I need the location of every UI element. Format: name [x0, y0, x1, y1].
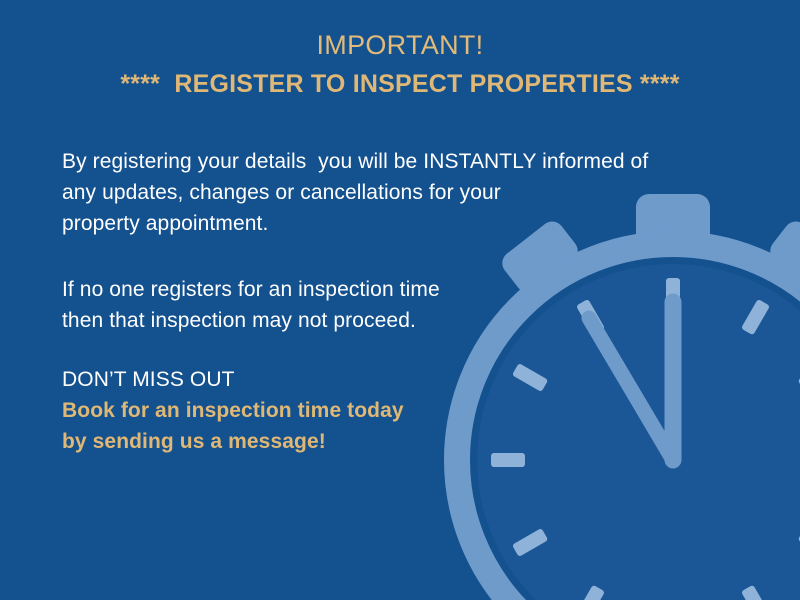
- promotional-slide: IMPORTANT! **** REGISTER TO INSPECT PROP…: [0, 0, 800, 600]
- heading-block: IMPORTANT! **** REGISTER TO INSPECT PROP…: [0, 28, 800, 100]
- slide-text-content: IMPORTANT! **** REGISTER TO INSPECT PROP…: [0, 0, 800, 600]
- cta-message-line: by sending us a message!: [62, 426, 404, 457]
- paragraph-line: If no one registers for an inspection ti…: [62, 274, 440, 305]
- paragraph-line: any updates, changes or cancellations fo…: [62, 177, 648, 208]
- paragraph-line: property appointment.: [62, 208, 648, 239]
- paragraph-registering-details: By registering your details you will be …: [62, 146, 648, 239]
- paragraph-line: then that inspection may not proceed.: [62, 305, 440, 336]
- cta-lead-line: DON’T MISS OUT: [62, 364, 404, 395]
- call-to-action-block: DON’T MISS OUT Book for an inspection ti…: [62, 364, 404, 457]
- cta-book-line: Book for an inspection time today: [62, 395, 404, 426]
- paragraph-no-registration-warning: If no one registers for an inspection ti…: [62, 274, 440, 336]
- page-title: IMPORTANT!: [0, 28, 800, 62]
- heading-subtitle: **** REGISTER TO INSPECT PROPERTIES ****: [0, 69, 800, 100]
- paragraph-line: By registering your details you will be …: [62, 146, 648, 177]
